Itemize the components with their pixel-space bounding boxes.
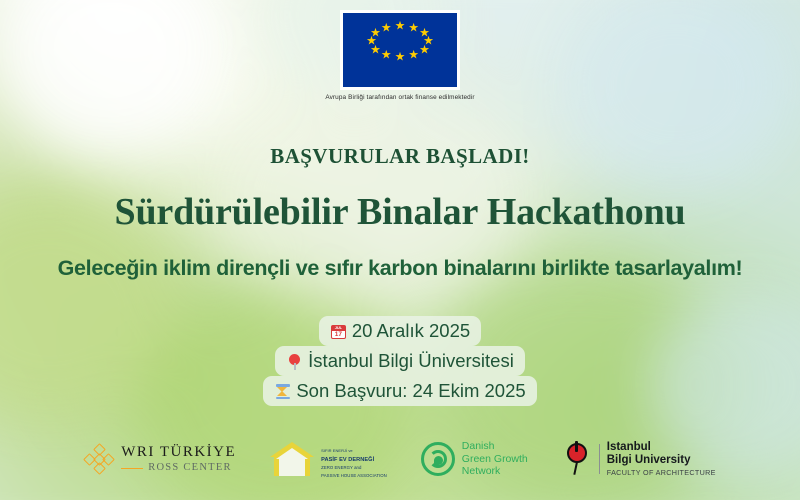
wri-turkiye-ross-center-logo: WRI TÜRKİYE ROSS CENTER <box>84 444 236 474</box>
zero-energy-passive-house-association-logo: SIFIR ENERJİ ve PASİF EV DERNEĞİ ZERO EN… <box>270 439 387 479</box>
page-title: Sürdürülebilir Binalar Hackathonu <box>0 190 800 234</box>
dggn-logo-line1: Danish <box>462 440 528 452</box>
eu-star-icon: ★ <box>419 45 430 56</box>
event-location-text: İstanbul Bilgi Üniversitesi <box>308 347 514 375</box>
dggn-logo-line2: Green Growth <box>462 453 528 465</box>
wri-rule <box>121 468 143 469</box>
ibu-logo-text: Istanbul Bilgi University FACULTY OF ARC… <box>607 441 716 478</box>
hourglass-icon <box>274 382 291 401</box>
eu-star-icon: ★ <box>370 27 381 38</box>
event-info-block: JUL 17 20 Aralık 2025 İstanbul Bilgi Üni… <box>0 316 800 406</box>
eu-star-icon: ★ <box>408 22 419 33</box>
location-pin-icon <box>286 352 303 371</box>
dggn-logo-line3: Network <box>462 465 528 477</box>
partner-logo-row: WRI TÜRKİYE ROSS CENTER SIFIR ENERJİ ve … <box>0 428 800 490</box>
ibu-logo-line3: FACULTY OF ARCHITECTURE <box>607 469 716 477</box>
zep-logo-tr-line1: SIFIR ENERJİ ve <box>321 448 353 453</box>
dggn-logo-text: Danish Green Growth Network <box>462 440 528 477</box>
ibu-logo-line1: Istanbul <box>607 441 716 454</box>
istanbul-bilgi-university-logo: Istanbul Bilgi University FACULTY OF ARC… <box>562 441 716 478</box>
application-deadline-text: Son Başvuru: 24 Ekim 2025 <box>296 377 525 405</box>
ibu-logo-line2: Bilgi University <box>607 454 716 467</box>
wri-logo-line2: ROSS CENTER <box>148 463 232 474</box>
zep-logo-en-line1: ZERO ENERGY and <box>321 466 387 471</box>
zep-logo-tr-line2: PASİF EV DERNEĞİ <box>321 457 387 463</box>
green-spiral-icon <box>421 442 455 476</box>
event-location-line: İstanbul Bilgi Üniversitesi <box>275 346 525 376</box>
danish-green-growth-network-logo: Danish Green Growth Network <box>421 440 528 477</box>
zep-logo-text: SIFIR ENERJİ ve PASİF EV DERNEĞİ ZERO EN… <box>321 439 387 479</box>
kicker-text: BAŞVURULAR BAŞLADI! <box>0 144 800 169</box>
eu-star-icon: ★ <box>395 52 406 63</box>
european-union-flag: ★ ★ ★ ★ ★ ★ ★ ★ ★ ★ ★ ★ <box>340 10 460 90</box>
eu-star-icon: ★ <box>381 50 392 61</box>
calendar-icon: JUL 17 <box>330 322 347 341</box>
house-outline-icon <box>270 441 314 477</box>
eu-star-icon: ★ <box>408 50 419 61</box>
eu-star-icon: ★ <box>395 21 406 32</box>
logo-divider <box>599 444 600 474</box>
subtitle-text: Geleceğin iklim dirençli ve sıfır karbon… <box>0 256 800 281</box>
wri-logo-text: WRI TÜRKİYE ROSS CENTER <box>121 444 236 474</box>
hackathon-poster: ★ ★ ★ ★ ★ ★ ★ ★ ★ ★ ★ ★ Avrupa Birliği t… <box>0 0 800 500</box>
wri-diamond-mark-icon <box>84 444 114 474</box>
bilgi-pin-icon <box>562 441 592 477</box>
eu-funding-block: ★ ★ ★ ★ ★ ★ ★ ★ ★ ★ ★ ★ Avrupa Birliği t… <box>0 10 800 101</box>
eu-funding-caption: Avrupa Birliği tarafından ortak finanse … <box>325 94 474 101</box>
wri-logo-line1: WRI TÜRKİYE <box>121 444 236 460</box>
eu-star-icon: ★ <box>381 22 392 33</box>
application-deadline-line: Son Başvuru: 24 Ekim 2025 <box>263 376 536 406</box>
event-date-line: JUL 17 20 Aralık 2025 <box>319 316 481 346</box>
zep-logo-en-line2: PASSIVE HOUSE ASSOCIATION <box>321 474 387 479</box>
event-date-text: 20 Aralık 2025 <box>352 317 470 345</box>
